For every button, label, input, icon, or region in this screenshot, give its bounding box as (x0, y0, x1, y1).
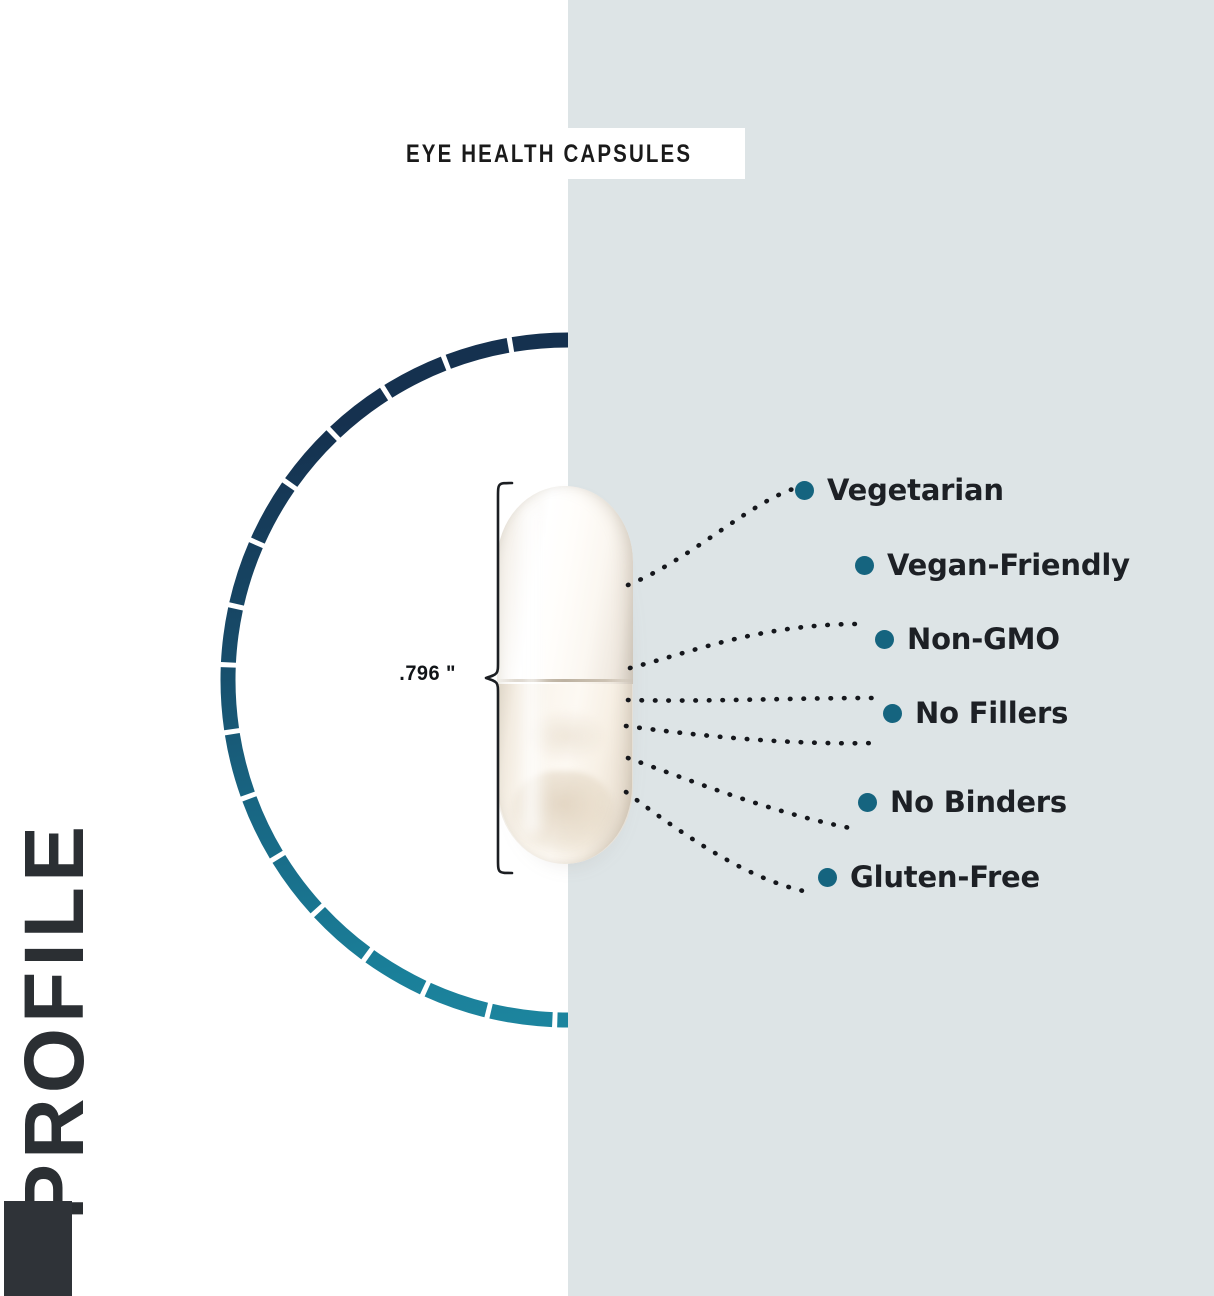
leader-line-5 (628, 758, 850, 828)
bullet-icon (858, 793, 877, 812)
leader-line-4 (626, 726, 875, 743)
bullet-icon (795, 481, 814, 500)
callout-gluten-free[interactable]: Gluten-Free (818, 860, 1040, 894)
callout-vegetarian[interactable]: Vegetarian (795, 473, 1004, 507)
bullet-icon (883, 704, 902, 723)
callout-label: Vegetarian (827, 473, 1004, 507)
callout-no-binders[interactable]: No Binders (858, 785, 1067, 819)
callout-no-fillers[interactable]: No Fillers (883, 696, 1068, 730)
callout-label: No Binders (890, 785, 1067, 819)
callout-label: Vegan-Friendly (887, 548, 1130, 582)
side-label-profile: PROFILE (14, 740, 94, 1220)
bullet-icon (818, 868, 837, 887)
leader-line-3 (628, 698, 872, 701)
callout-non-gmo[interactable]: Non-GMO (875, 622, 1060, 656)
leader-line-2 (630, 624, 855, 668)
bullet-icon (875, 630, 894, 649)
callout-label: Non-GMO (907, 622, 1060, 656)
callout-label: Gluten-Free (850, 860, 1040, 894)
page-title: EYE HEALTH CAPSULES (406, 136, 685, 172)
callout-vegan-friendly[interactable]: Vegan-Friendly (855, 548, 1130, 582)
product-profile-graphic: EYE HEALTH CAPSULES PROFILE .796 " (0, 0, 1214, 1296)
dotted-leader-lines (600, 440, 880, 900)
dimension-label: .796 " (361, 662, 456, 686)
callout-label: No Fillers (915, 696, 1068, 730)
side-accent-block (4, 1201, 72, 1296)
leader-line-6 (626, 792, 808, 892)
curly-brace-icon (452, 478, 522, 878)
leader-line-1 (628, 488, 796, 585)
bullet-icon (855, 556, 874, 575)
